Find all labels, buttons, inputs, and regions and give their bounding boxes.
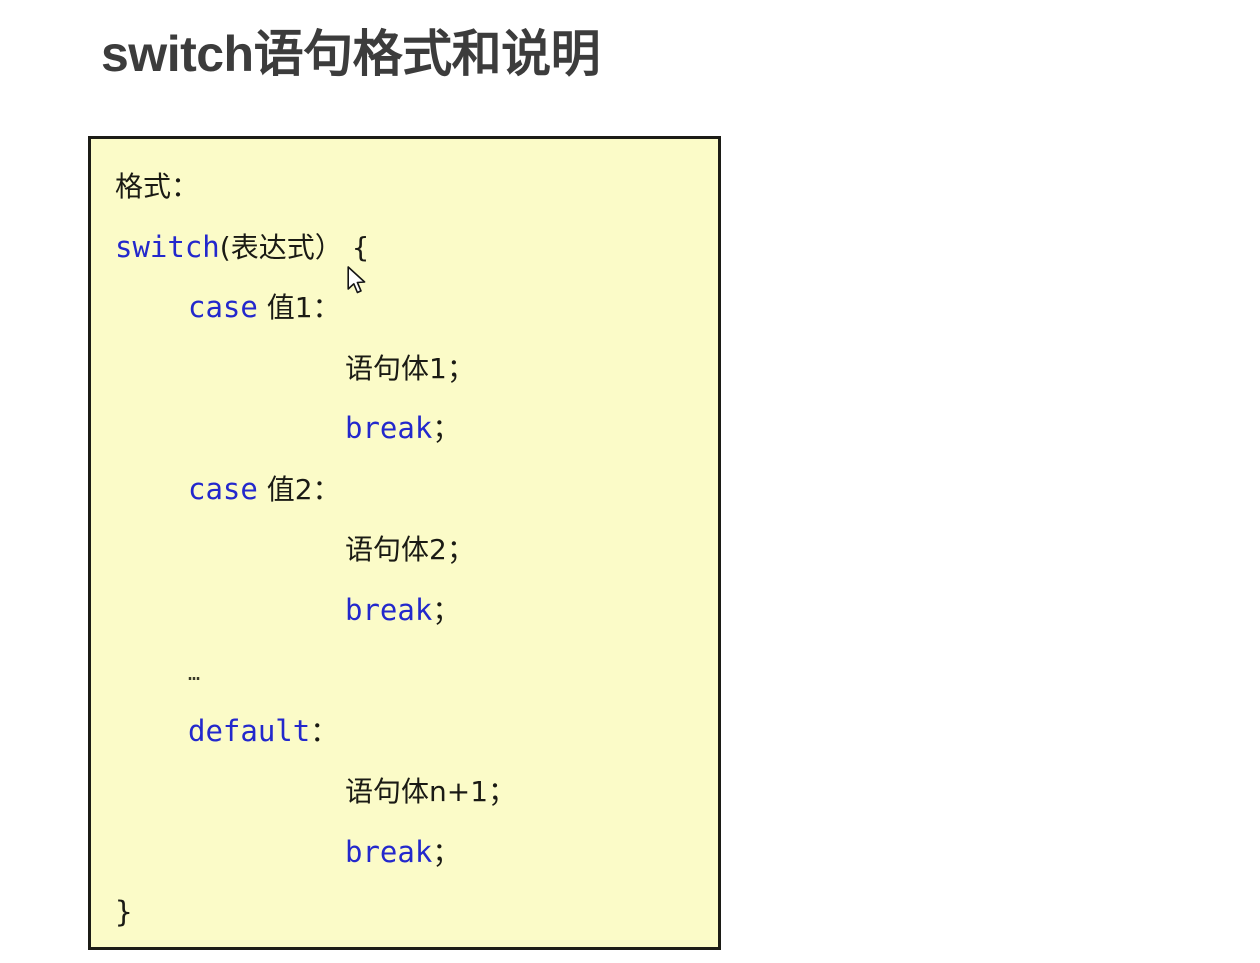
code-line: default：	[91, 714, 718, 749]
code-line: break；	[91, 593, 718, 628]
code-text: ；	[432, 836, 460, 869]
code-line: case 值2：	[91, 472, 718, 507]
code-syntax-box: 格式：switch(表达式） {case 值1：语句体1；break；case …	[88, 136, 721, 950]
code-line: …	[91, 653, 718, 690]
code-line: 语句体2；	[91, 532, 718, 567]
code-line: switch(表达式） {	[91, 230, 718, 265]
page-title: switch语句格式和说明	[101, 25, 600, 84]
code-line: break；	[91, 835, 718, 870]
code-keyword: break	[345, 411, 432, 445]
code-text: ；	[432, 594, 460, 627]
code-keyword: break	[345, 593, 432, 627]
code-text: ：	[310, 715, 338, 748]
code-text: 值1：	[258, 291, 341, 324]
code-line-list: 格式：switch(表达式） {case 值1：语句体1；break；case …	[91, 139, 718, 947]
code-text: …	[188, 661, 201, 685]
code-keyword: case	[188, 472, 258, 506]
code-text: 格式：	[115, 170, 199, 203]
code-text: ；	[432, 412, 460, 445]
code-text: (表达式） {	[220, 231, 370, 264]
code-line: }	[91, 895, 718, 929]
code-text: 语句体2；	[345, 533, 475, 566]
code-line: 语句体n+1；	[91, 774, 718, 809]
code-keyword: case	[188, 290, 258, 324]
code-text: 语句体n+1；	[345, 775, 516, 808]
code-line: case 值1：	[91, 290, 718, 325]
code-text: 值2：	[258, 473, 341, 506]
code-keyword: default	[188, 714, 310, 748]
code-keyword: switch	[115, 230, 220, 264]
code-keyword: break	[345, 835, 432, 869]
code-text: }	[115, 895, 132, 929]
code-line: 语句体1；	[91, 351, 718, 386]
code-line: break；	[91, 411, 718, 446]
code-line: 格式：	[91, 169, 718, 204]
code-text: 语句体1；	[345, 352, 475, 385]
